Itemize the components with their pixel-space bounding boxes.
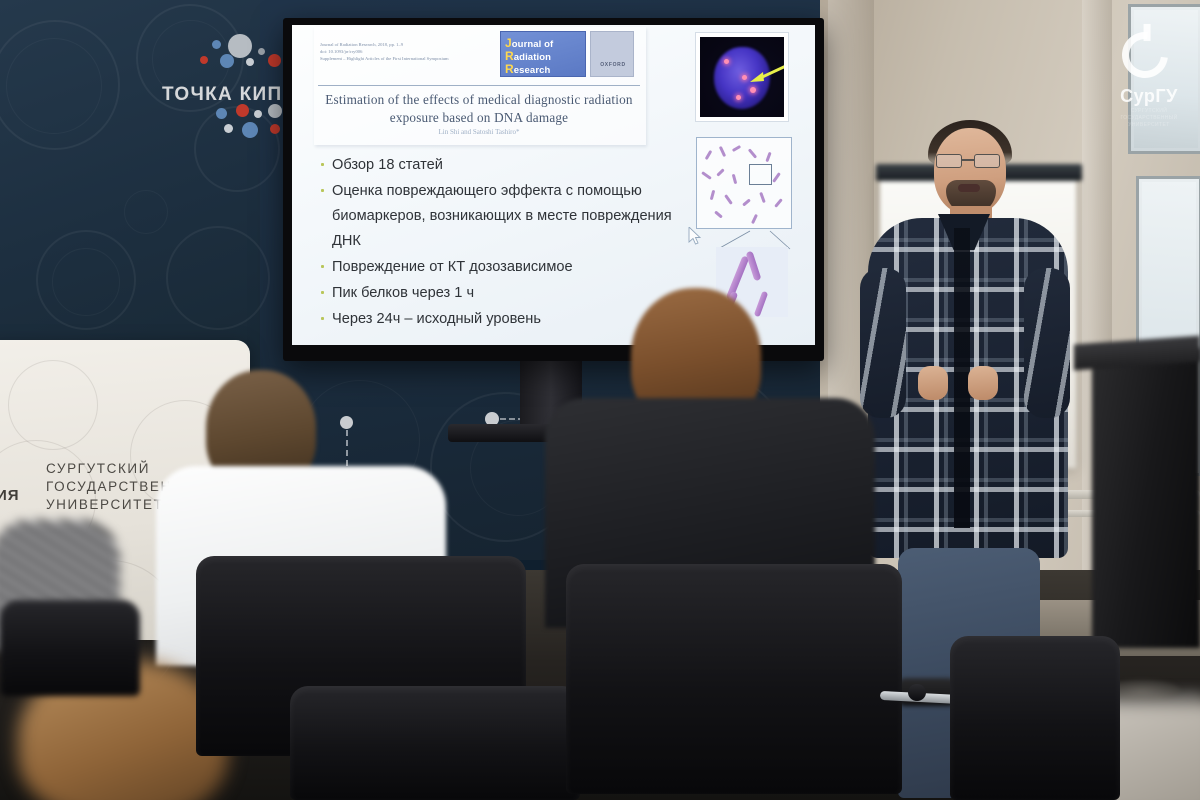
logo-dot [268, 54, 281, 67]
surgu-label: СурГУ [1110, 86, 1188, 107]
wall-ring-decor [124, 190, 168, 234]
nucleus-image [700, 37, 784, 117]
journal-logo-cap-r1: R [505, 49, 514, 63]
chair-arm-knob [908, 684, 926, 701]
logo-dot [268, 104, 282, 118]
logo-dot [228, 34, 252, 58]
logo-dot [246, 58, 254, 66]
surgu-sublabel: СУРГУТСКИЙ ГОСУДАРСТВЕННЫЙ УНИВЕРСИТЕТ [1108, 108, 1190, 129]
logo-dot [270, 124, 280, 134]
publisher-name: OXFORD [591, 62, 635, 68]
lecture-hall-scene: ТОЧКА КИП СурГУ СУРГУТСКИЙ ГОСУДАРСТВЕНН… [0, 0, 1200, 800]
chromosome [765, 152, 771, 162]
chromosome [719, 146, 726, 157]
slide-bullet: Обзор 18 статей [318, 153, 678, 178]
speaker-glasses-icon [936, 154, 1004, 168]
logo-dot [254, 110, 262, 118]
audience-chair[interactable] [566, 564, 902, 794]
audience-chair[interactable] [290, 686, 580, 800]
slide-bullet: Оценка повреждающего эффекта с помощью б… [318, 179, 678, 254]
bullet-text: Повреждение от КТ дозозависимое [332, 259, 573, 275]
chromosome [748, 148, 757, 158]
speaker-mouth [958, 184, 980, 192]
journal-logo-cap-j: J [505, 36, 512, 50]
speaker-right-arm [1024, 268, 1070, 418]
wall-ring-decor [6, 38, 102, 134]
publisher-logo: OXFORD [590, 31, 634, 77]
annotation-arrow-icon [746, 63, 784, 83]
logo-dot [212, 40, 221, 49]
mouse-pointer-icon [688, 227, 701, 245]
glasses-lens-right [974, 154, 1000, 168]
callout-selection-box [749, 164, 772, 185]
logo-dot [200, 56, 208, 64]
logo-dot [216, 108, 227, 119]
audience-chair[interactable] [950, 636, 1120, 800]
logo-dot [258, 48, 265, 55]
dna-damage-focus [750, 87, 756, 93]
glasses-lens-left [936, 154, 962, 168]
banner-ring-decor [8, 360, 98, 450]
logo-dot [224, 124, 233, 133]
surgu-logo: СурГУ СУРГУТСКИЙ ГОСУДАРСТВЕННЫЙ УНИВЕРС… [1108, 32, 1188, 142]
chromosome [716, 168, 724, 176]
speaker-right-hand [968, 366, 998, 400]
logo-dot [242, 122, 258, 138]
slide-bullet: Повреждение от КТ дозозависимое [318, 255, 678, 280]
chromosome [772, 172, 781, 183]
bullet-text: Обзор 18 статей [332, 157, 443, 173]
glasses-bridge [962, 159, 974, 161]
dna-damage-focus [736, 95, 741, 100]
chromosome [732, 145, 741, 152]
zoomed-chromosome [746, 251, 762, 282]
chromosome [705, 150, 713, 160]
podium [1092, 348, 1200, 648]
wall-ring-decor [52, 248, 120, 316]
paper-title: Estimation of the effects of medical dia… [318, 91, 640, 127]
paper-authors: Lin Shi and Satoshi Tashiro* [318, 128, 640, 136]
dna-damage-focus [724, 59, 729, 64]
surgu-circle-mark-icon [1113, 23, 1178, 88]
bullet-text: Оценка повреждающего эффекта с помощью б… [332, 183, 672, 249]
chromosome [701, 171, 712, 180]
tochka-kip-label: ТОЧКА КИП [162, 84, 282, 106]
callout-connector-lines [696, 183, 792, 253]
journal-logo-line-3: esearch [514, 65, 551, 76]
journal-logo-cap-r2: R [505, 62, 514, 76]
audience-chair[interactable] [0, 600, 140, 696]
wall-ring-decor [166, 226, 270, 330]
logo-dot [220, 54, 234, 68]
speaker-left-hand [918, 366, 948, 400]
header-divider [318, 85, 640, 86]
bullet-text: Пик белков через 1 ч [332, 285, 474, 301]
figure-fluorescence-nucleus [696, 33, 788, 121]
logo-dot [236, 104, 249, 117]
bullet-text: Через 24ч – исходный уровень [332, 311, 541, 327]
journal-logo: Journal of Radiation Research [500, 31, 586, 77]
